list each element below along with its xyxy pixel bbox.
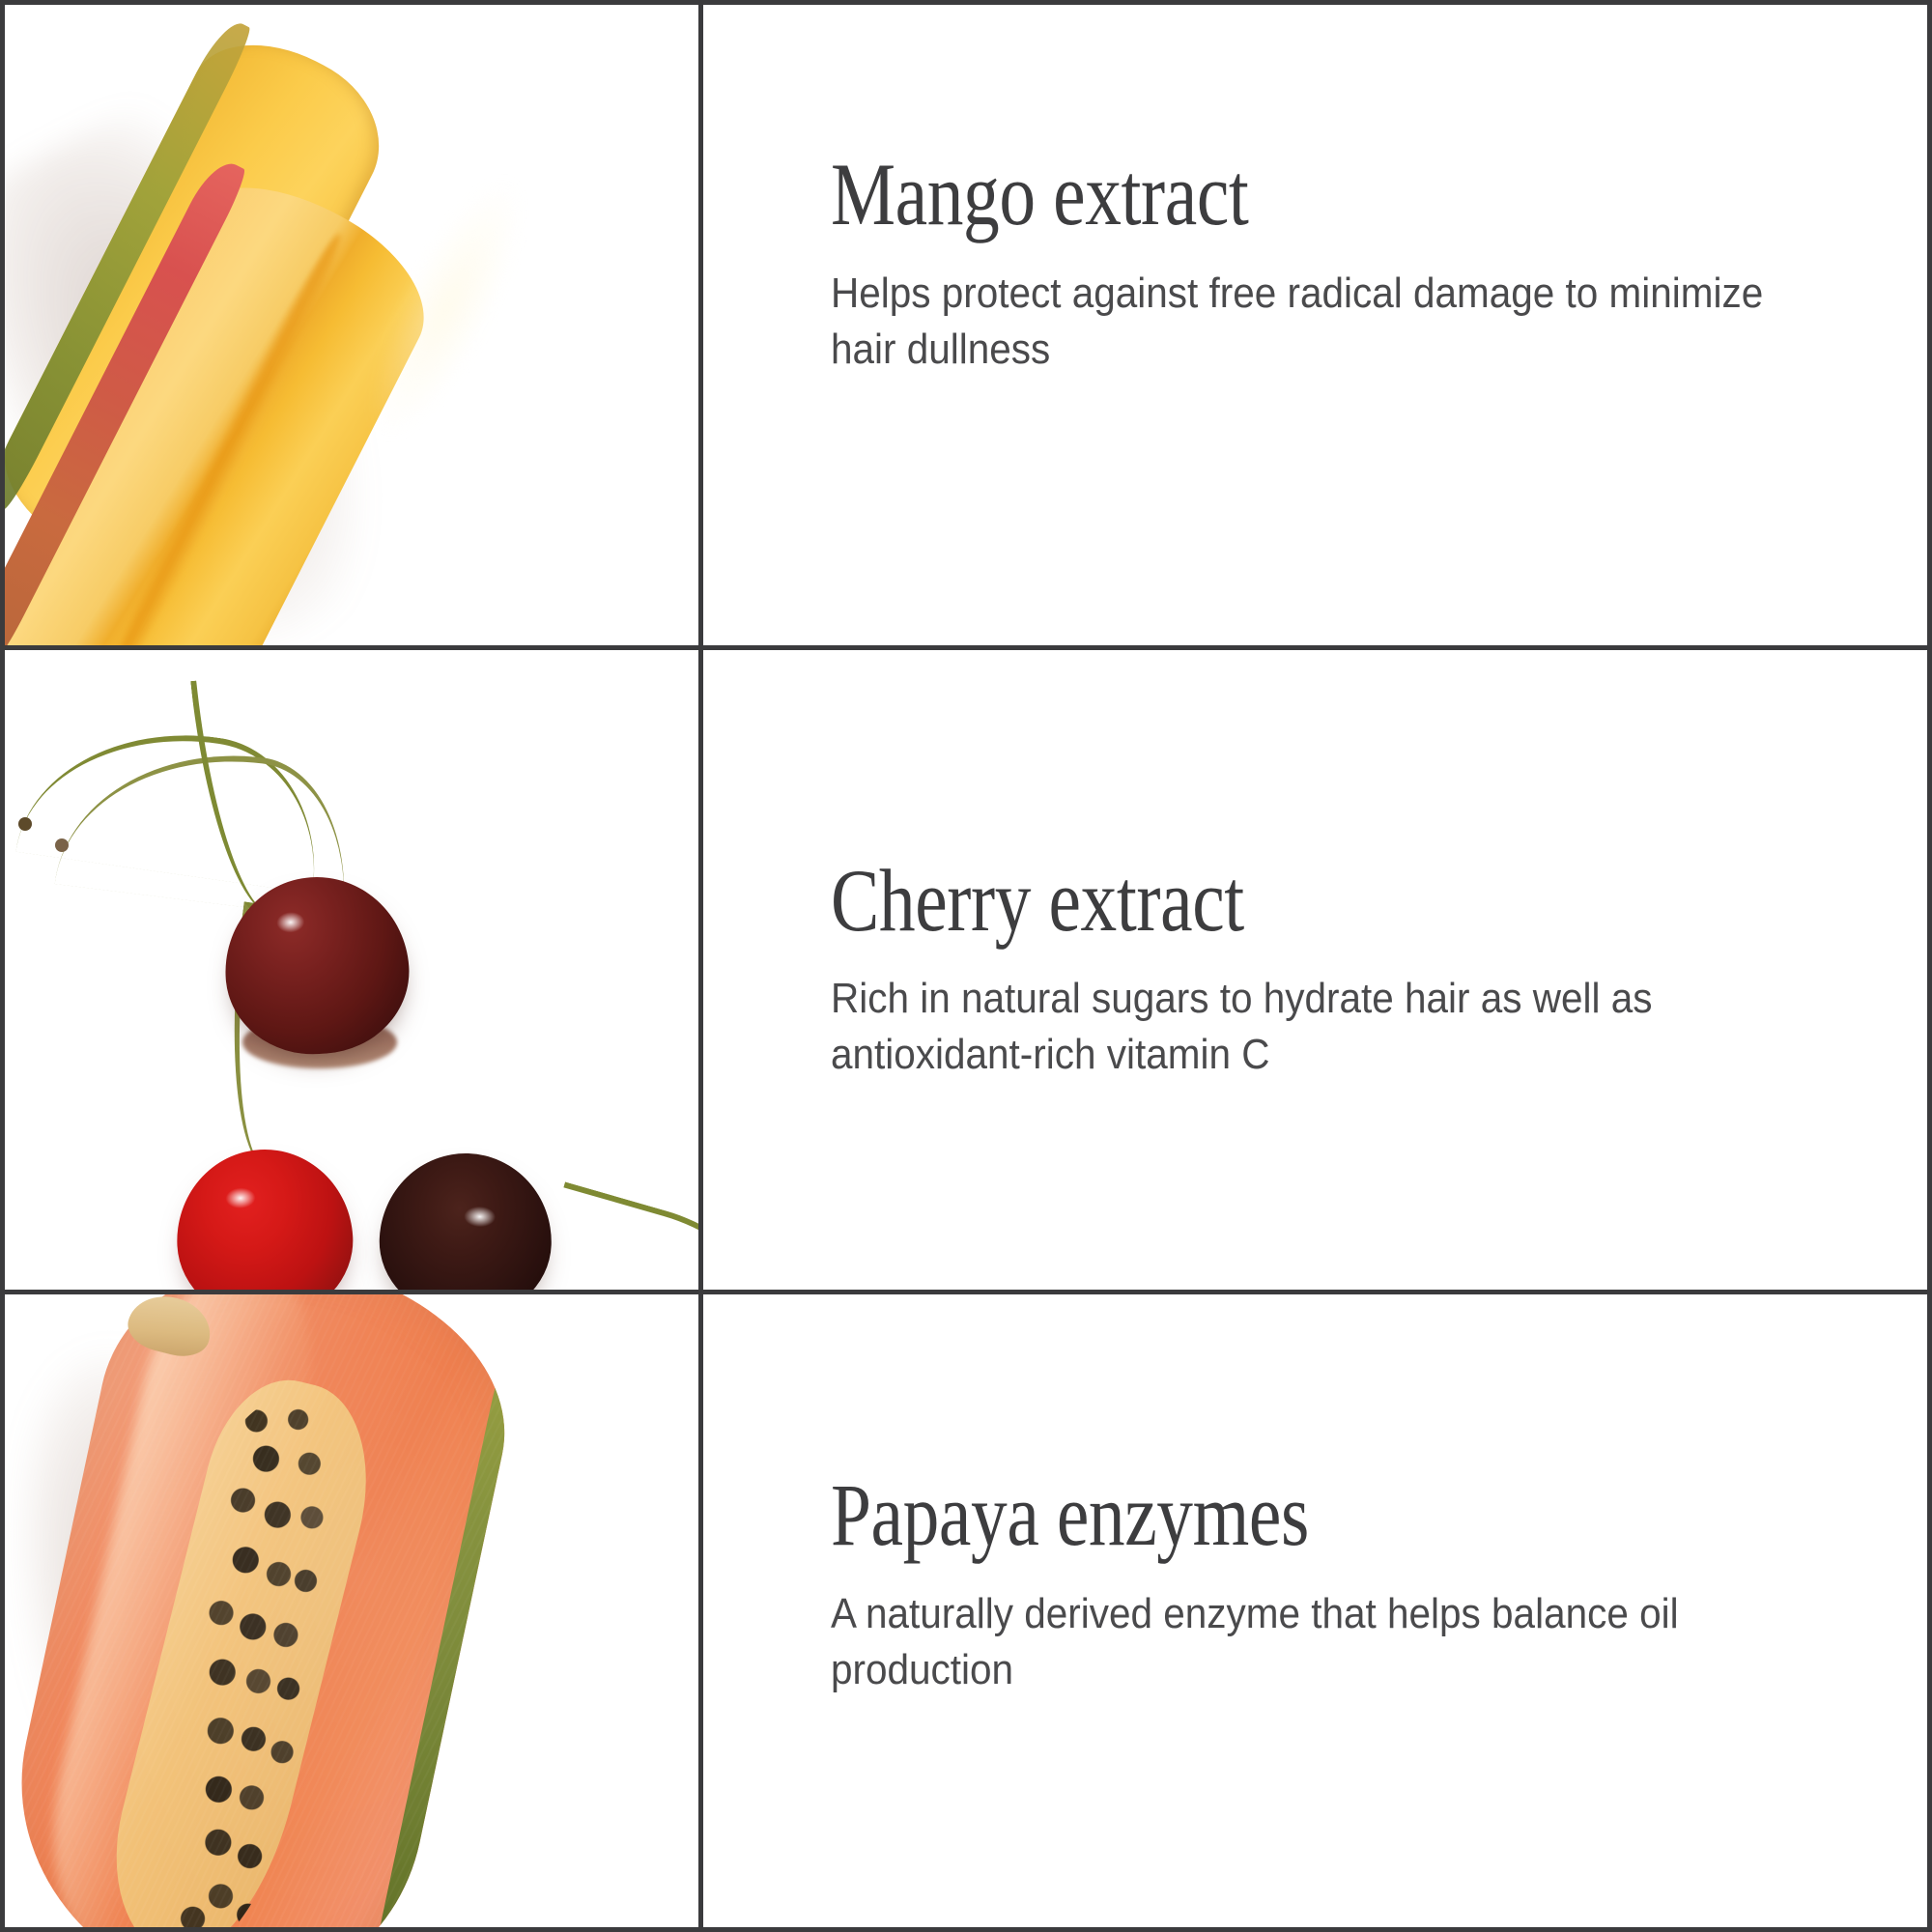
divider-horizontal-2: [5, 1290, 1932, 1294]
cherry-stem-5: [528, 1181, 698, 1292]
cherry-heading: Cherry extract: [831, 856, 1687, 947]
mango-slices-photo: [5, 5, 698, 647]
papaya-description: A naturally derived enzyme that helps ba…: [831, 1586, 1791, 1698]
papaya-half-photo: [5, 1292, 698, 1932]
section-mango: Mango extract Helps protect against free…: [5, 5, 1932, 647]
papaya-text-cell: Papaya enzymes A naturally derived enzym…: [703, 1292, 1932, 1932]
cherry-description: Rich in natural sugars to hydrate hair a…: [831, 971, 1791, 1083]
divider-vertical: [698, 5, 703, 1932]
cherry-text-cell: Cherry extract Rich in natural sugars to…: [703, 647, 1932, 1292]
mango-text-cell: Mango extract Helps protect against free…: [703, 5, 1932, 647]
papaya-heading: Papaya enzymes: [831, 1470, 1687, 1561]
papaya-illustration: [5, 1292, 698, 1932]
papaya-photo-cell: [5, 1292, 698, 1932]
cherry-dark-brown: [377, 1151, 554, 1292]
cherries-photo: [5, 647, 698, 1292]
cherry-stem-tip-1: [18, 817, 32, 831]
section-papaya: Papaya enzymes A naturally derived enzym…: [5, 1292, 1932, 1932]
divider-horizontal-1: [5, 645, 1932, 650]
cherry-bright-red: [173, 1145, 357, 1292]
mango-illustration: [5, 14, 698, 647]
cherry-stem-tip-2: [55, 838, 69, 852]
mango-photo-cell: [5, 5, 698, 647]
cherries-illustration: [5, 647, 698, 1292]
mango-description: Helps protect against free radical damag…: [831, 266, 1791, 378]
ingredient-benefits-infographic: Mango extract Helps protect against free…: [0, 0, 1932, 1932]
mango-heading: Mango extract: [831, 150, 1687, 241]
section-cherry: Cherry extract Rich in natural sugars to…: [5, 647, 1932, 1292]
cherry-photo-cell: [5, 647, 698, 1292]
